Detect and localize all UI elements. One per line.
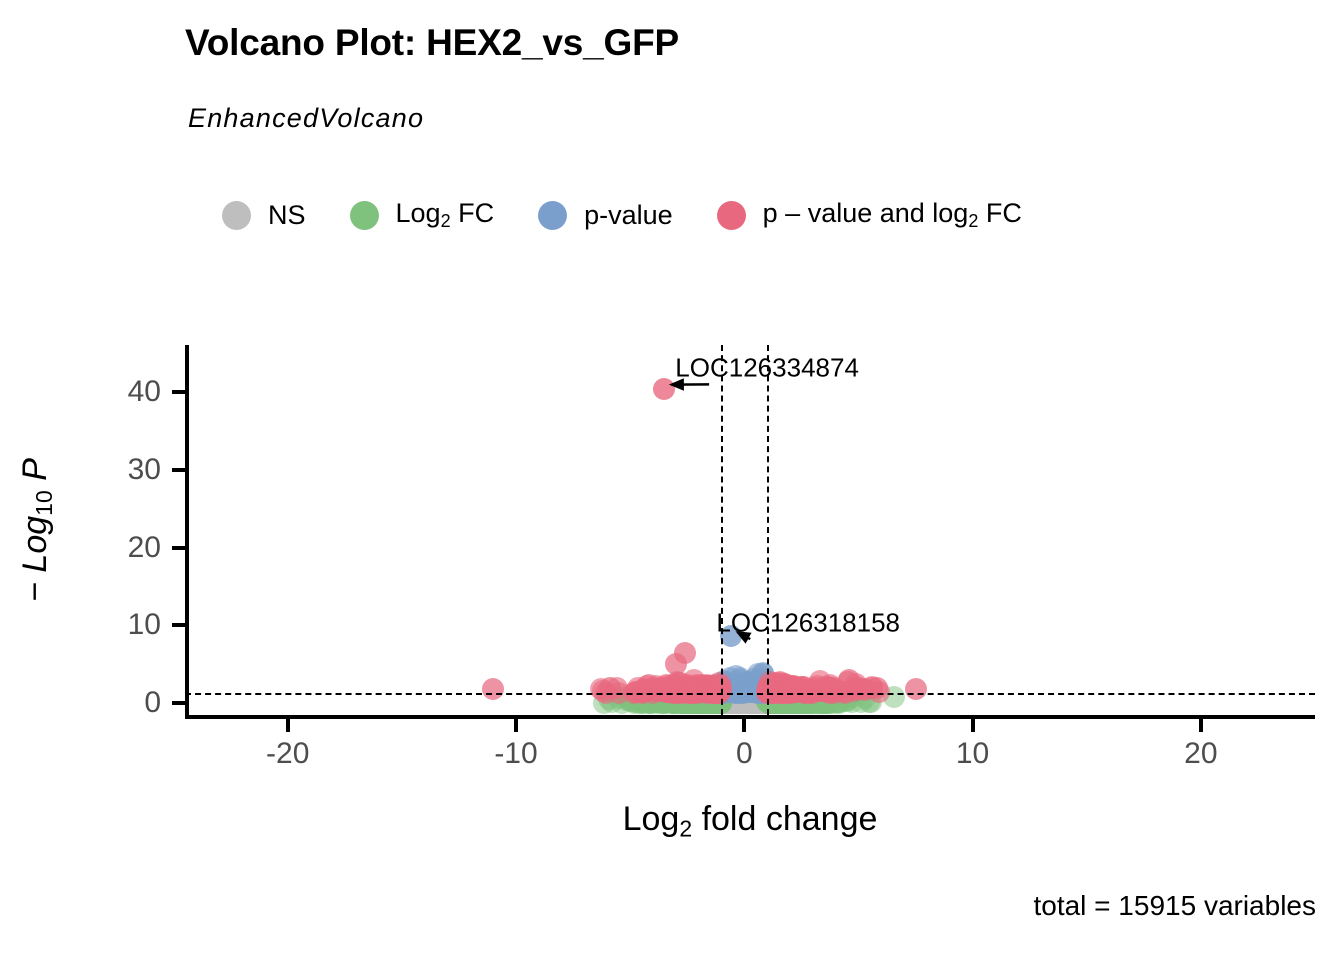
y-tick-label: 0 [144, 686, 161, 720]
y-tick-label: 30 [128, 453, 161, 487]
x-tick-mark [1199, 719, 1203, 732]
y-axis-title: − Log10 P [16, 458, 58, 602]
legend-item-2[interactable]: p-value [538, 201, 717, 230]
x-tick-mark [514, 719, 518, 732]
y-tick-mark [172, 390, 185, 394]
y-tick-mark [172, 701, 185, 705]
legend-key-swatch [350, 201, 379, 230]
y-tick-mark [172, 468, 185, 472]
x-tick-label: 10 [956, 737, 989, 771]
volcano-plot-figure: Volcano Plot: HEX2_vs_GFP EnhancedVolcan… [0, 0, 1344, 960]
y-tick-mark [172, 623, 185, 627]
legend-item-1[interactable]: Log2 FC [350, 200, 539, 230]
x-axis-line [185, 715, 1315, 719]
legend-label: p – value and log2 FC [763, 200, 1022, 230]
x-tick-mark [742, 719, 746, 732]
x-tick-label: -10 [494, 737, 537, 771]
x-tick-label: 20 [1184, 737, 1217, 771]
gene-label-connector-arrow [185, 345, 1315, 715]
legend-key-swatch [222, 201, 251, 230]
legend-item-3[interactable]: p – value and log2 FC [717, 200, 1066, 230]
x-tick-mark [971, 719, 975, 732]
legend-label: p-value [584, 202, 673, 229]
x-tick-mark [286, 719, 290, 732]
total-variables-note: total = 15915 variables [1033, 890, 1316, 922]
y-tick-label: 20 [128, 531, 161, 565]
y-tick-label: 40 [128, 375, 161, 409]
x-tick-label: 0 [736, 737, 753, 771]
legend-label: Log2 FC [396, 200, 495, 230]
plot-panel: -20-1001020010203040 LOC126334874LOC1263… [185, 345, 1315, 715]
legend-key-swatch [717, 201, 746, 230]
legend-key-swatch [538, 201, 567, 230]
legend-item-0[interactable]: NS [222, 201, 350, 230]
page-title: Volcano Plot: HEX2_vs_GFP [185, 22, 679, 64]
chart-legend: NSLog2 FCp-valuep – value and log2 FC [222, 200, 1066, 230]
plot-subtitle: EnhancedVolcano [188, 103, 424, 134]
legend-label: NS [268, 202, 306, 229]
y-tick-label: 10 [128, 608, 161, 642]
x-tick-label: -20 [266, 737, 309, 771]
y-tick-mark [172, 546, 185, 550]
x-axis-title: Log2 fold change [185, 800, 1315, 842]
